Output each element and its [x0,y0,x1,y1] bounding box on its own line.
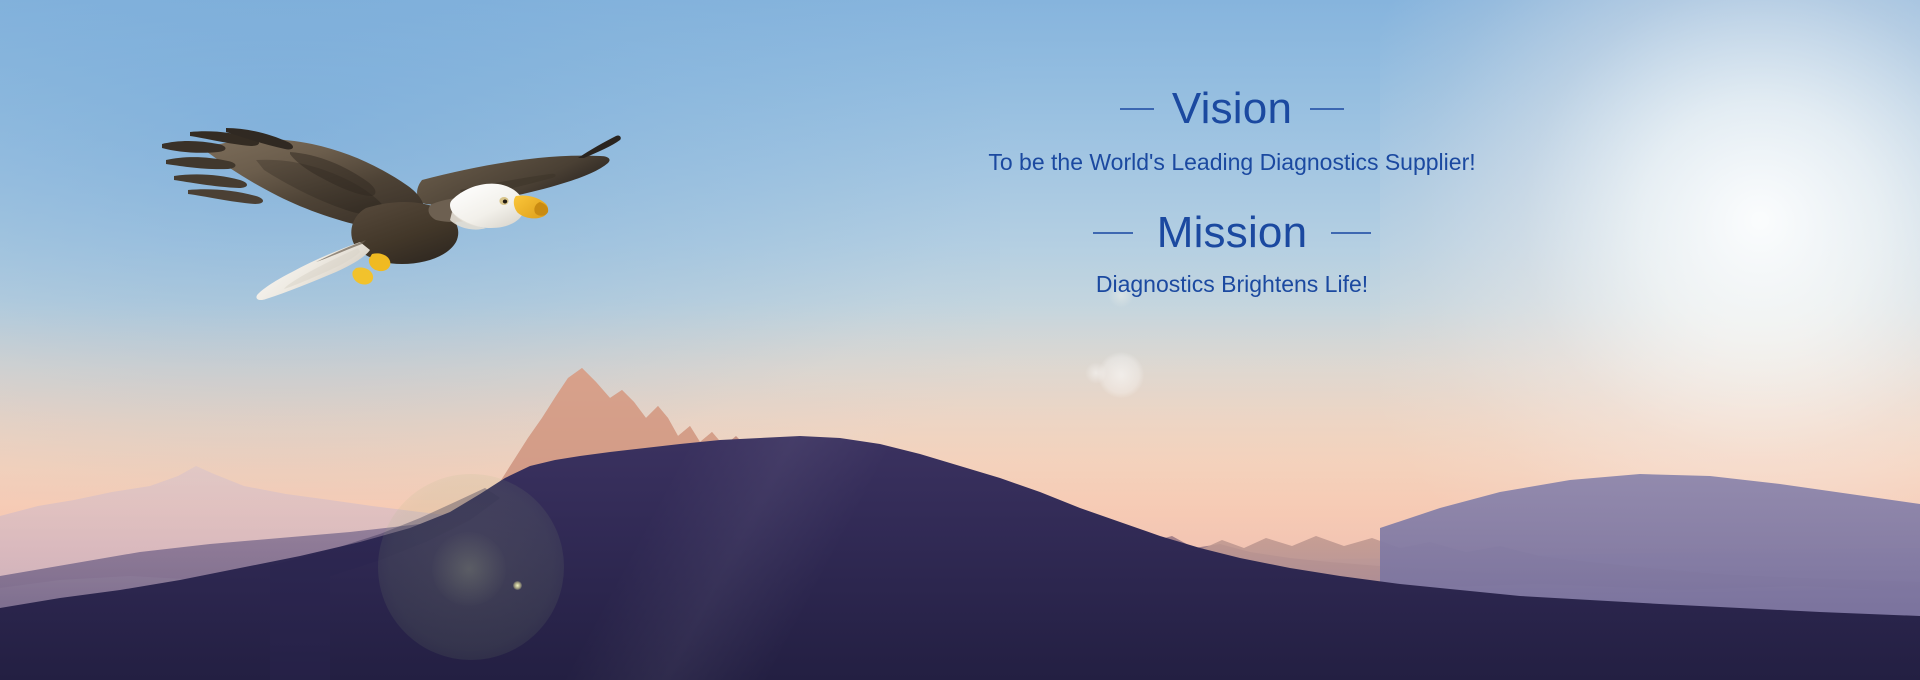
foreground-ridge [0,380,1920,680]
mission-rule-right-icon [1331,232,1371,234]
eagle-far-wingtip [578,135,621,158]
vision-mission-banner: Vision To be the World's Leading Diagnos… [0,0,1920,680]
mission-title: Mission [1157,210,1308,256]
mission-rule-left-icon [1093,232,1133,234]
vision-rule-right-icon [1310,108,1344,110]
eagle-pupil [503,200,507,204]
vision-block: Vision To be the World's Leading Diagnos… [952,86,1512,178]
vision-title: Vision [1172,86,1292,132]
vision-rule-left-icon [1120,108,1154,110]
vision-tagline: To be the World's Leading Diagnostics Su… [952,148,1512,178]
eagle-talon-front [352,267,373,284]
mission-block: Mission Diagnostics Brightens Life! [952,210,1512,300]
eagle-tail-shade [284,248,360,289]
vision-heading-row: Vision [952,86,1512,132]
vision-mission-text: Vision To be the World's Leading Diagnos… [952,86,1512,300]
mission-heading-row: Mission [952,210,1512,256]
eagle-icon [160,128,620,318]
mission-tagline: Diagnostics Brightens Life! [952,270,1512,300]
